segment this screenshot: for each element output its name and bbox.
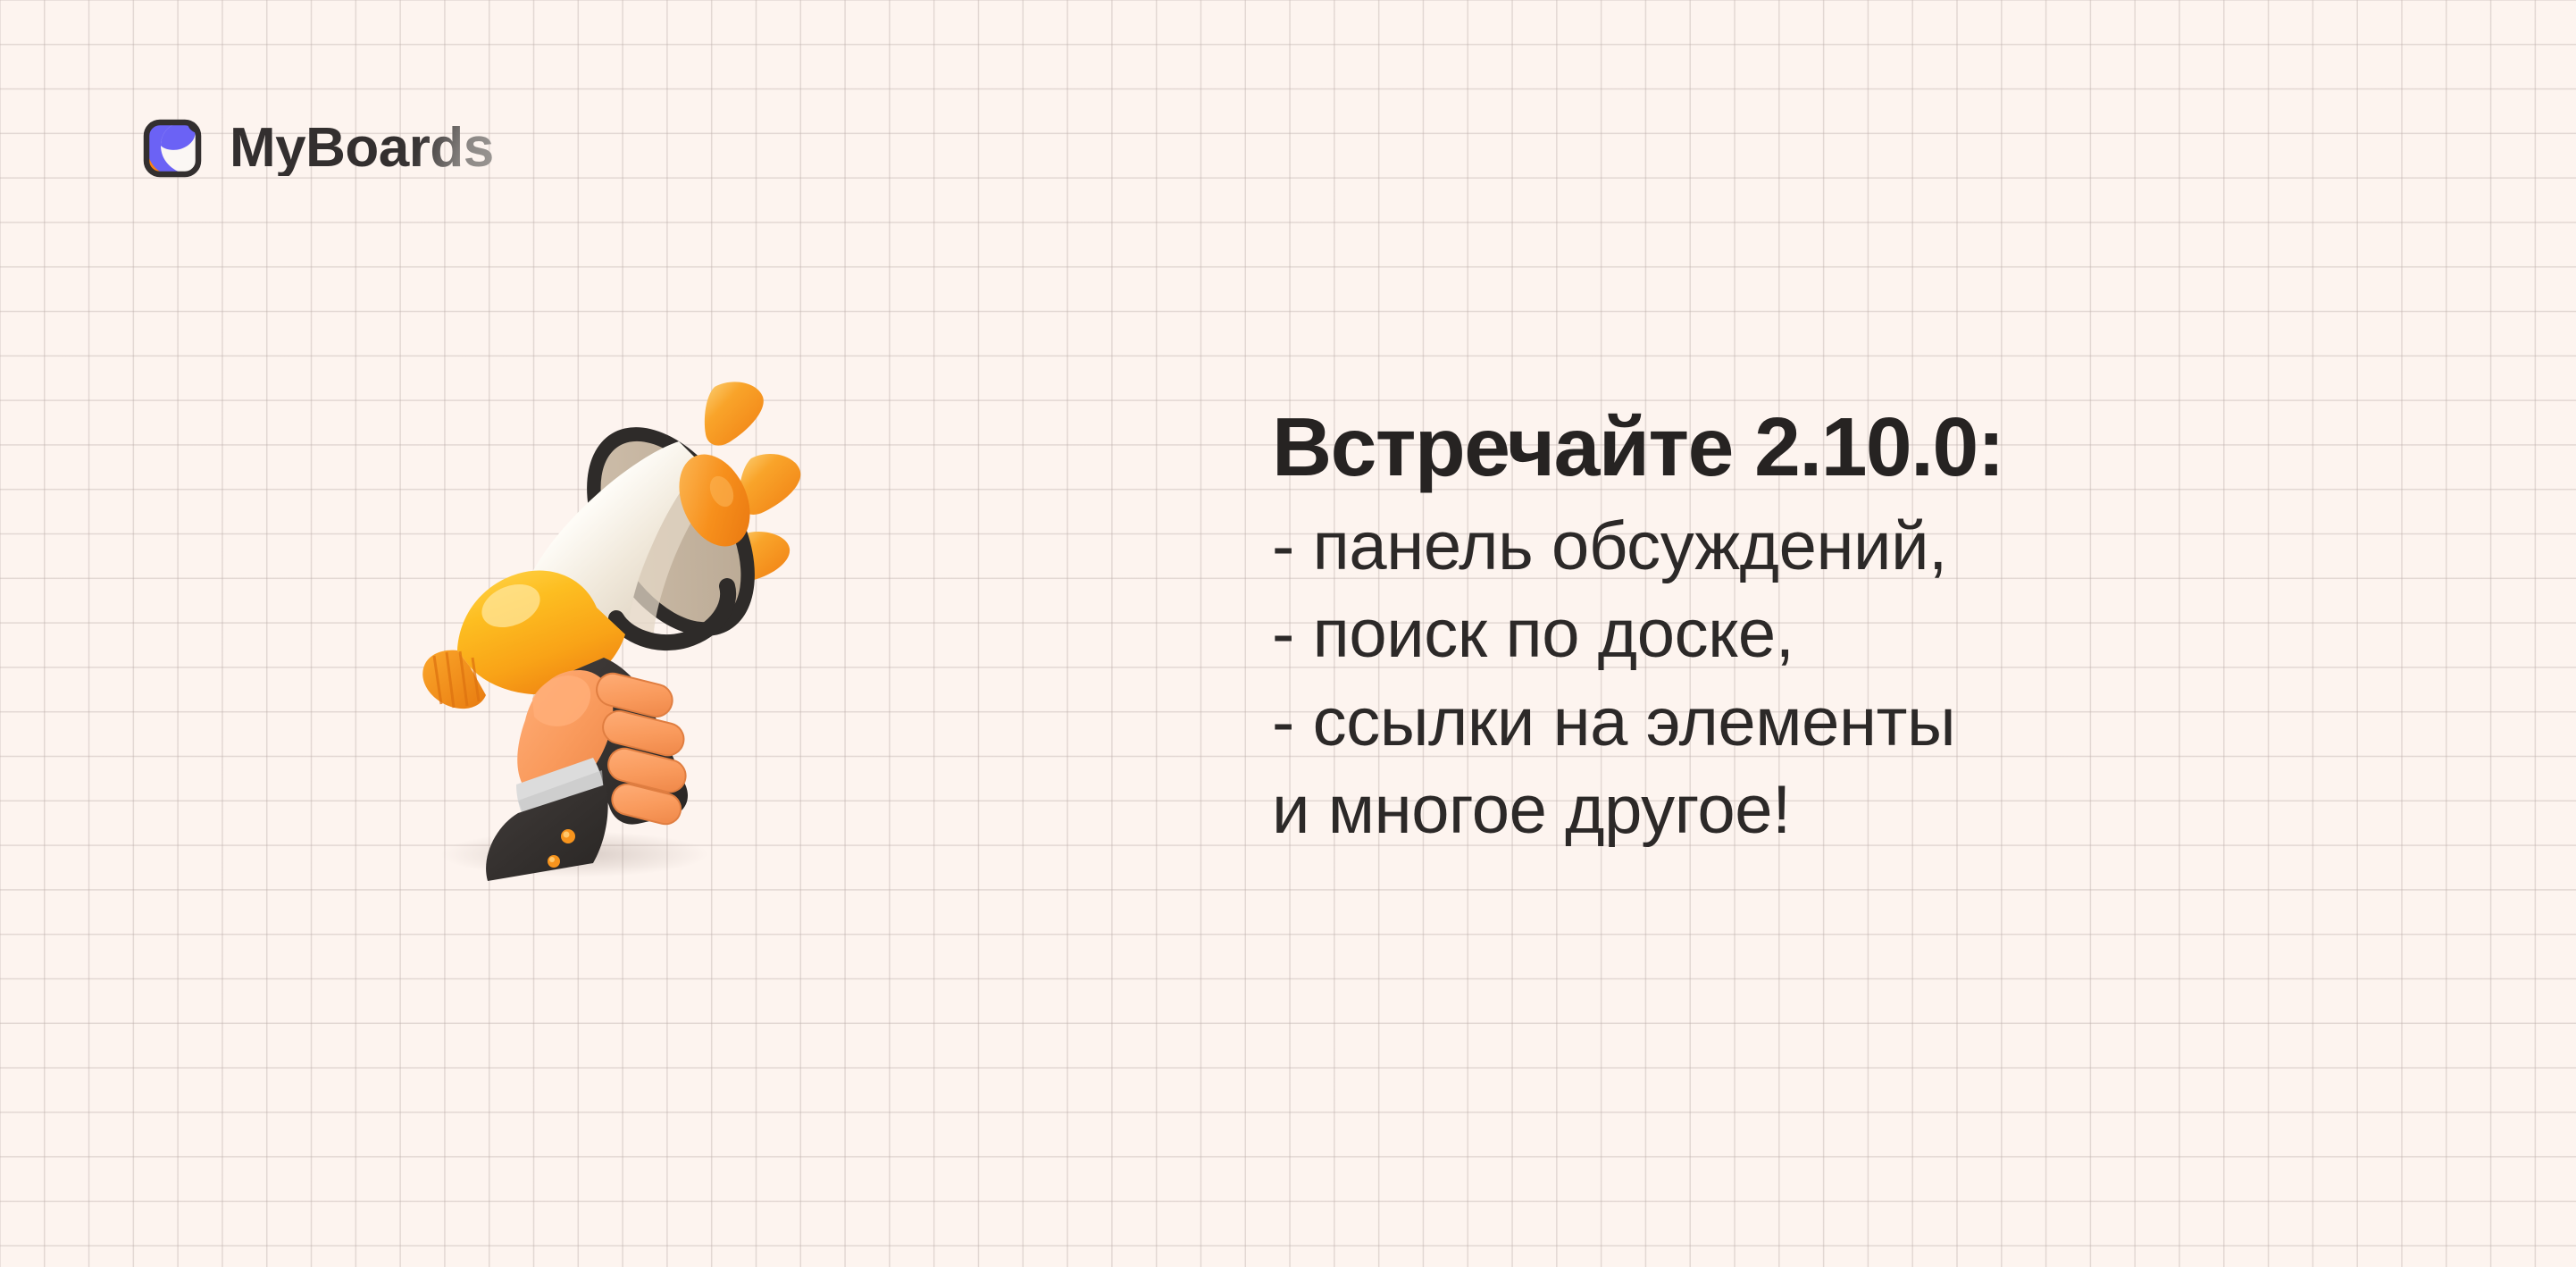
list-item: - панель обсуждений,	[1272, 503, 2415, 591]
list-item: - поиск по доске,	[1272, 591, 2415, 678]
list-item: - ссылки на элементы	[1272, 679, 2415, 767]
feature-list: - панель обсуждений, - поиск по доске, -…	[1272, 503, 2415, 855]
myboards-logo-icon	[143, 119, 202, 178]
brand-name: MyBoards	[230, 121, 494, 176]
page-title: Встречайте 2.10.0:	[1272, 404, 2415, 491]
announcement-copy: Встречайте 2.10.0: - панель обсуждений, …	[1272, 404, 2415, 854]
brand-lockup[interactable]: MyBoards	[143, 119, 494, 178]
megaphone-in-hand-icon	[418, 366, 918, 885]
list-item: и многое другое!	[1272, 767, 2415, 854]
announcement-banner: MyBoards	[0, 0, 2576, 1267]
